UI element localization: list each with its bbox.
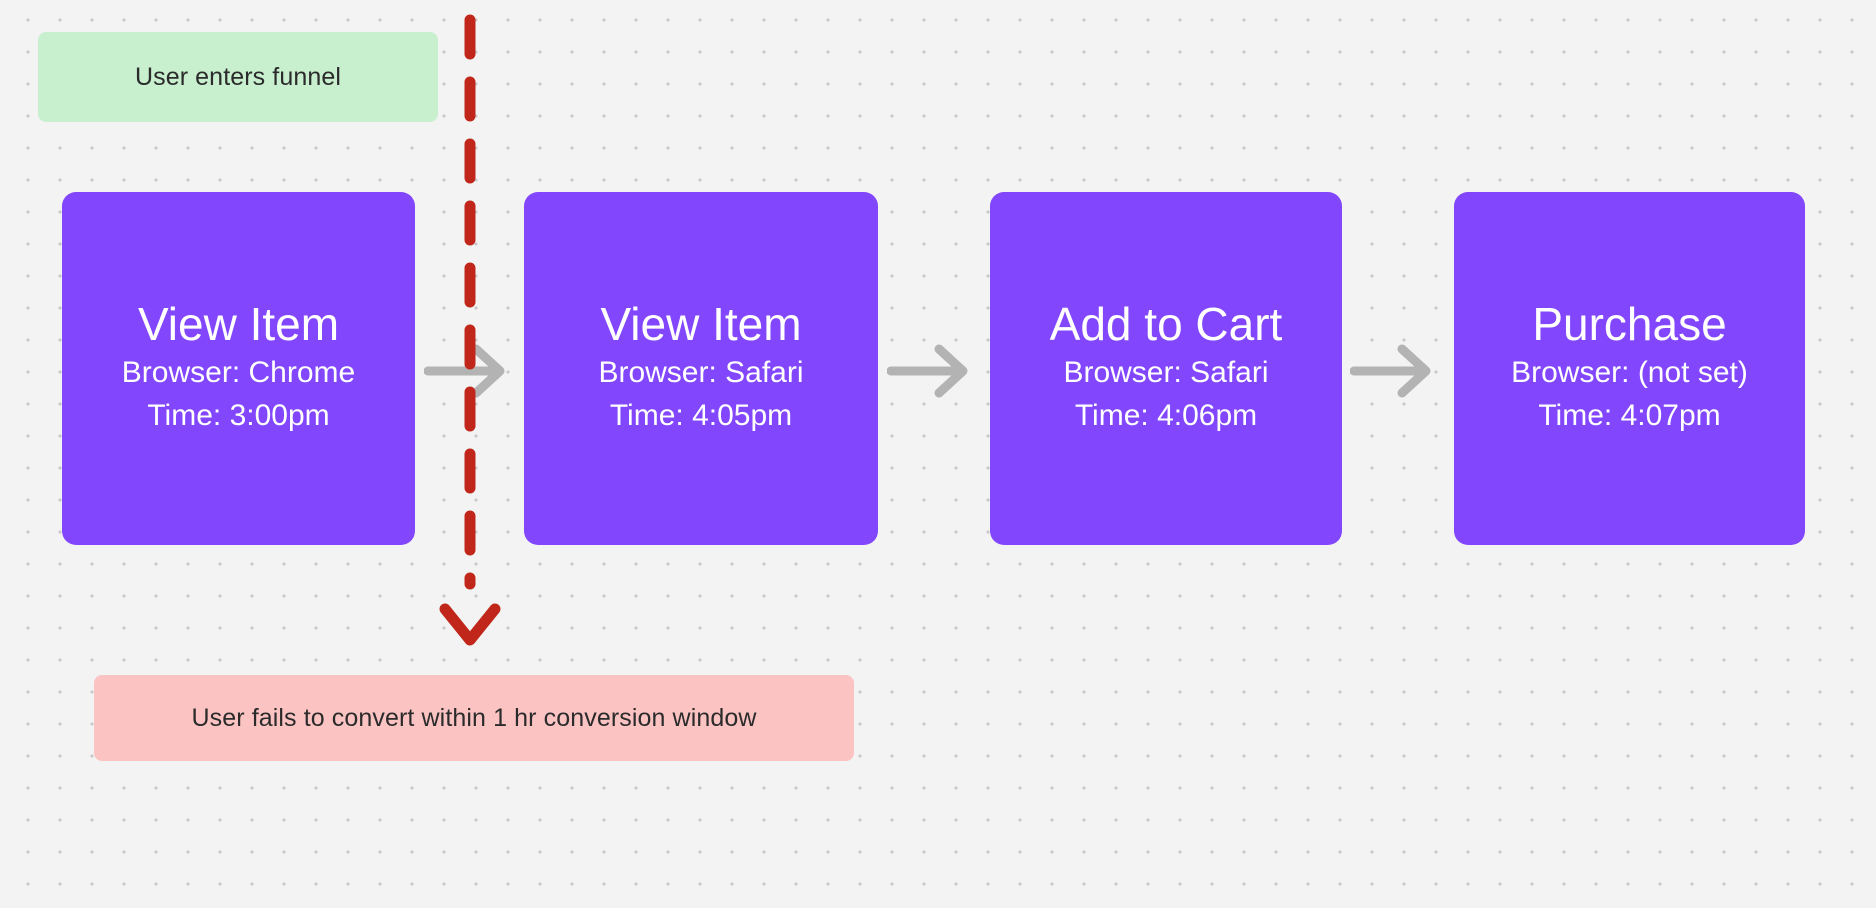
funnel-diagram-canvas: User enters funnel View Item Browser: Ch…	[0, 0, 1876, 908]
funnel-step-card[interactable]: View Item Browser: Chrome Time: 3:00pm	[62, 192, 415, 545]
funnel-step-title: View Item	[138, 300, 339, 349]
abandon-dashed-arrow-icon	[432, 14, 508, 660]
funnel-step-browser: Browser: Chrome	[122, 352, 355, 395]
funnel-step-title: Add to Cart	[1050, 300, 1283, 349]
funnel-step-title: View Item	[600, 300, 801, 349]
flow-arrow-right-icon	[1350, 340, 1442, 402]
flow-arrow-right-icon	[887, 340, 979, 402]
funnel-step-browser: Browser: Safari	[1063, 352, 1268, 395]
funnel-step-browser: Browser: Safari	[598, 352, 803, 395]
failure-annotation-box: User fails to convert within 1 hr conver…	[94, 675, 854, 761]
funnel-step-title: Purchase	[1532, 300, 1726, 349]
funnel-step-time: Time: 4:07pm	[1538, 395, 1720, 438]
failure-annotation-label: User fails to convert within 1 hr conver…	[191, 703, 756, 733]
funnel-step-card[interactable]: Purchase Browser: (not set) Time: 4:07pm	[1454, 192, 1805, 545]
funnel-step-time: Time: 3:00pm	[147, 395, 329, 438]
funnel-step-card[interactable]: Add to Cart Browser: Safari Time: 4:06pm	[990, 192, 1342, 545]
funnel-step-card[interactable]: View Item Browser: Safari Time: 4:05pm	[524, 192, 878, 545]
entry-annotation-label: User enters funnel	[135, 62, 341, 92]
entry-annotation-box: User enters funnel	[38, 32, 438, 122]
funnel-step-time: Time: 4:05pm	[610, 395, 792, 438]
funnel-step-browser: Browser: (not set)	[1511, 352, 1748, 395]
funnel-step-time: Time: 4:06pm	[1075, 395, 1257, 438]
